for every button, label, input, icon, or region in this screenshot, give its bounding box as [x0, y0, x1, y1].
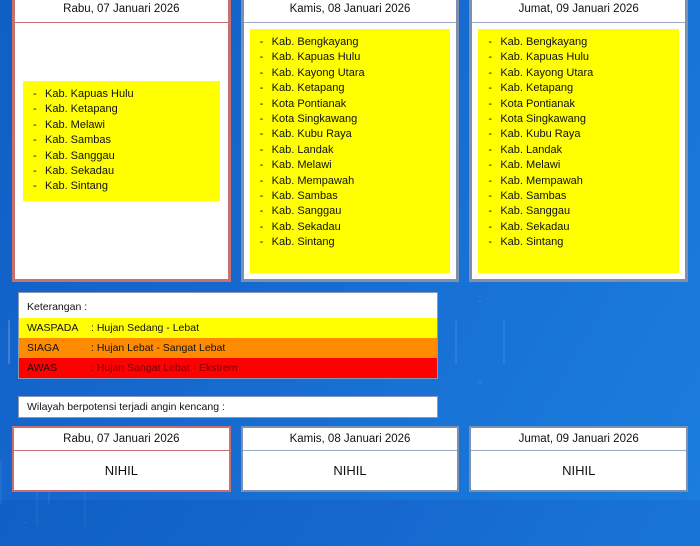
region-label: Kab. Sekadau — [45, 165, 114, 177]
list-item: -Kab. Sintang — [488, 235, 675, 250]
wind-title-box: Wilayah berpotensi terjadi angin kencang… — [18, 396, 438, 418]
legend-title: Keterangan : — [19, 297, 437, 318]
legend-label: WASPADA — [19, 318, 85, 338]
region-label: Kab. Kubu Raya — [272, 128, 352, 140]
list-item: -Kab. Sintang — [33, 179, 216, 194]
region-label: Kab. Mempawah — [500, 175, 583, 187]
region-label: Kab. Sekadau — [272, 221, 341, 233]
region-label: Kab. Melawi — [45, 119, 105, 131]
list-item: -Kota Singkawang — [260, 112, 447, 127]
day1-title: Rabu, 07 Januari 2026 — [15, 0, 228, 23]
list-item: -Kab. Sanggau — [33, 149, 216, 164]
list-item: -Kab. Kayong Utara — [488, 66, 675, 81]
legend-desc: : Hujan Lebat - Sangat Lebat — [85, 338, 437, 358]
region-label: Kab. Kapuas Hulu — [272, 51, 361, 63]
region-label: Kab. Kayong Utara — [272, 67, 365, 79]
legend-box: Keterangan : WASPADA : Hujan Sedang - Le… — [18, 292, 438, 379]
list-item: -Kab. Landak — [260, 143, 447, 158]
day3-body: -Kab. Bengkayang -Kab. Kapuas Hulu -Kab.… — [472, 23, 685, 279]
legend-label: SIAGA — [19, 338, 85, 358]
region-label: Kab. Sanggau — [500, 205, 570, 217]
region-label: Kab. Landak — [500, 144, 562, 156]
poster-root: Rabu, 07 Januari 2026 -Kab. Kapuas Hulu … — [0, 0, 700, 500]
wind-day2-title: Kamis, 08 Januari 2026 — [243, 428, 458, 451]
list-item: -Kab. Melawi — [488, 158, 675, 173]
wind-day1-title: Rabu, 07 Januari 2026 — [14, 428, 229, 451]
list-item: -Kab. Melawi — [260, 158, 447, 173]
list-item: -Kab. Sekadau — [33, 164, 216, 179]
list-item: -Kota Pontianak — [488, 97, 675, 112]
day3-title: Jumat, 09 Januari 2026 — [472, 0, 685, 23]
legend-row-waspada: WASPADA : Hujan Sedang - Lebat — [19, 318, 437, 338]
list-item: -Kab. Kubu Raya — [260, 127, 447, 142]
list-item: -Kab. Melawi — [33, 118, 216, 133]
list-item: -Kab. Mempawah — [488, 174, 675, 189]
wind-columns: Rabu, 07 Januari 2026 NIHIL Kamis, 08 Ja… — [12, 426, 688, 492]
list-item: -Kab. Sambas — [260, 189, 447, 204]
region-label: Kab. Melawi — [272, 159, 332, 171]
region-label: Kab. Sintang — [272, 236, 335, 248]
wind-day3-value: NIHIL — [562, 463, 595, 478]
legend-label: AWAS — [19, 358, 85, 378]
list-item: -Kab. Kayong Utara — [260, 66, 447, 81]
list-item: -Kab. Ketapang — [260, 81, 447, 96]
wind-day3-title: Jumat, 09 Januari 2026 — [471, 428, 686, 451]
day3-region-list: -Kab. Bengkayang -Kab. Kapuas Hulu -Kab.… — [478, 29, 679, 273]
region-label: Kab. Sintang — [45, 180, 108, 192]
list-item: -Kab. Landak — [488, 143, 675, 158]
list-item: -Kota Pontianak — [260, 97, 447, 112]
list-item: -Kab. Sintang — [260, 235, 447, 250]
wind-column-day2: Kamis, 08 Januari 2026 NIHIL — [241, 426, 460, 492]
day1-body: -Kab. Kapuas Hulu -Kab. Ketapang -Kab. M… — [15, 23, 228, 279]
region-label: Kota Singkawang — [272, 113, 358, 125]
region-label: Kab. Sanggau — [45, 150, 115, 162]
list-item: -Kab. Bengkayang — [488, 35, 675, 50]
list-item: -Kab. Sambas — [33, 133, 216, 148]
forecast-column-day3: Jumat, 09 Januari 2026 -Kab. Bengkayang … — [469, 0, 688, 282]
list-item: -Kab. Sekadau — [260, 220, 447, 235]
region-label: Kab. Bengkayang — [272, 36, 359, 48]
region-label: Kab. Sekadau — [500, 221, 569, 233]
day2-region-list: -Kab. Bengkayang -Kab. Kapuas Hulu -Kab.… — [250, 29, 451, 273]
list-item: -Kab. Ketapang — [33, 102, 216, 117]
wind-title: Wilayah berpotensi terjadi angin kencang… — [19, 401, 225, 413]
list-item: -Kab. Kapuas Hulu — [260, 50, 447, 65]
legend-desc: : Hujan Sangat Lebat - Ekstrem — [85, 358, 437, 378]
region-label: Kab. Ketapang — [500, 82, 573, 94]
region-label: Kab. Kapuas Hulu — [45, 88, 134, 100]
legend-row-siaga: SIAGA : Hujan Lebat - Sangat Lebat — [19, 338, 437, 358]
region-label: Kab. Sintang — [500, 236, 563, 248]
list-item: -Kab. Mempawah — [260, 174, 447, 189]
region-label: Kab. Kubu Raya — [500, 128, 580, 140]
region-label: Kab. Kapuas Hulu — [500, 51, 589, 63]
list-item: -Kab. Sanggau — [260, 204, 447, 219]
wind-day1-value: NIHIL — [105, 463, 138, 478]
list-item: -Kab. Sanggau — [488, 204, 675, 219]
region-label: Kab. Kayong Utara — [500, 67, 593, 79]
region-label: Kab. Sambas — [45, 134, 111, 146]
region-label: Kota Singkawang — [500, 113, 586, 125]
region-label: Kab. Sanggau — [272, 205, 342, 217]
list-item: -Kab. Kubu Raya — [488, 127, 675, 142]
region-label: Kota Pontianak — [500, 98, 575, 110]
forecast-column-day2: Kamis, 08 Januari 2026 -Kab. Bengkayang … — [241, 0, 460, 282]
wind-column-day1: Rabu, 07 Januari 2026 NIHIL — [12, 426, 231, 492]
list-item: -Kab. Ketapang — [488, 81, 675, 96]
list-item: -Kota Singkawang — [488, 112, 675, 127]
list-item: -Kab. Bengkayang — [260, 35, 447, 50]
day1-region-list: -Kab. Kapuas Hulu -Kab. Ketapang -Kab. M… — [23, 81, 220, 201]
list-item: -Kab. Kapuas Hulu — [33, 87, 216, 102]
legend-desc: : Hujan Sedang - Lebat — [85, 318, 437, 338]
region-label: Kab. Ketapang — [45, 103, 118, 115]
day2-title: Kamis, 08 Januari 2026 — [244, 0, 457, 23]
region-label: Kab. Melawi — [500, 159, 560, 171]
region-label: Kab. Mempawah — [272, 175, 355, 187]
list-item: -Kab. Kapuas Hulu — [488, 50, 675, 65]
region-label: Kab. Bengkayang — [500, 36, 587, 48]
list-item: -Kab. Sambas — [488, 189, 675, 204]
list-item: -Kab. Sekadau — [488, 220, 675, 235]
region-label: Kab. Landak — [272, 144, 334, 156]
region-label: Kota Pontianak — [272, 98, 347, 110]
region-label: Kab. Sambas — [272, 190, 338, 202]
region-label: Kab. Ketapang — [272, 82, 345, 94]
region-label: Kab. Sambas — [500, 190, 566, 202]
forecast-columns: Rabu, 07 Januari 2026 -Kab. Kapuas Hulu … — [12, 0, 688, 282]
day2-body: -Kab. Bengkayang -Kab. Kapuas Hulu -Kab.… — [244, 23, 457, 279]
wind-day2-value: NIHIL — [333, 463, 366, 478]
wind-column-day3: Jumat, 09 Januari 2026 NIHIL — [469, 426, 688, 492]
forecast-column-day1: Rabu, 07 Januari 2026 -Kab. Kapuas Hulu … — [12, 0, 231, 282]
legend-row-awas: AWAS : Hujan Sangat Lebat - Ekstrem — [19, 358, 437, 378]
